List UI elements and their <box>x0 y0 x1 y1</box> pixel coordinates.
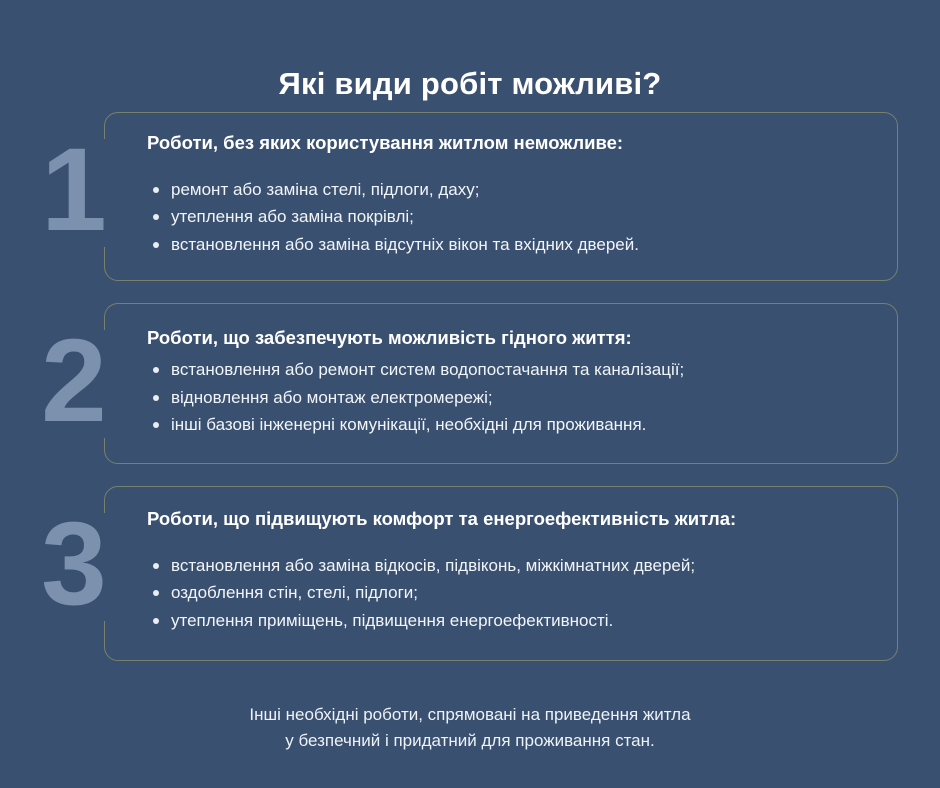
bullet-icon <box>153 367 159 373</box>
card-number-2: 2 <box>31 322 117 440</box>
card-number-1: 1 <box>31 131 117 249</box>
list-item-text: відновлення або монтаж електромережі; <box>171 388 493 407</box>
list-item-text: утеплення або заміна покрівлі; <box>171 207 414 226</box>
list-item-text: утеплення приміщень, підвищення енергоеф… <box>171 611 613 630</box>
list-item: встановлення або ремонт систем водопоста… <box>147 356 871 384</box>
card-number-3: 3 <box>31 505 117 623</box>
bullet-icon <box>153 242 159 248</box>
list-item-text: ремонт або заміна стелі, підлоги, даху; <box>171 180 479 199</box>
list-item: відновлення або монтаж електромережі; <box>147 384 871 412</box>
card-list-3: встановлення або заміна відкосів, підвік… <box>147 552 871 635</box>
list-item: встановлення або заміна відкосів, підвік… <box>147 552 871 580</box>
work-category-card-3: 3 Роботи, що підвищують комфорт та енерг… <box>104 486 898 661</box>
infographic-page: Які види робіт можливі? 1 Роботи, без як… <box>0 0 940 788</box>
bullet-icon <box>153 618 159 624</box>
work-category-card-1: 1 Роботи, без яких користування житлом н… <box>104 112 898 281</box>
footer-line-2: у безпечний і придатний для проживання с… <box>0 728 940 754</box>
page-title: Які види робіт можливі? <box>0 65 940 102</box>
bullet-icon <box>153 187 159 193</box>
list-item: ремонт або заміна стелі, підлоги, даху; <box>147 176 871 204</box>
bullet-icon <box>153 590 159 596</box>
card-heading-3: Роботи, що підвищують комфорт та енергое… <box>147 507 847 532</box>
list-item: утеплення приміщень, підвищення енергоеф… <box>147 607 871 635</box>
list-item-text: оздоблення стін, стелі, підлоги; <box>171 583 418 602</box>
bullet-icon <box>153 214 159 220</box>
footer-line-1: Інші необхідні роботи, спрямовані на при… <box>0 702 940 728</box>
list-item: інші базові інженерні комунікації, необх… <box>147 411 871 439</box>
bullet-icon <box>153 422 159 428</box>
list-item: встановлення або заміна відсутніх вікон … <box>147 231 871 259</box>
card-list-2: встановлення або ремонт систем водопоста… <box>147 356 871 439</box>
card-heading-2: Роботи, що забезпечують можливість гідно… <box>147 326 871 351</box>
list-item: утеплення або заміна покрівлі; <box>147 203 871 231</box>
card-list-1: ремонт або заміна стелі, підлоги, даху; … <box>147 176 871 259</box>
list-item: оздоблення стін, стелі, підлоги; <box>147 579 871 607</box>
list-item-text: встановлення або заміна відсутніх вікон … <box>171 235 639 254</box>
card-heading-1: Роботи, без яких користування житлом нем… <box>147 131 871 156</box>
list-item-text: встановлення або ремонт систем водопоста… <box>171 360 684 379</box>
footer-note: Інші необхідні роботи, спрямовані на при… <box>0 702 940 755</box>
bullet-icon <box>153 563 159 569</box>
list-item-text: інші базові інженерні комунікації, необх… <box>171 415 646 434</box>
bullet-icon <box>153 395 159 401</box>
list-item-text: встановлення або заміна відкосів, підвік… <box>171 556 695 575</box>
work-category-card-2: 2 Роботи, що забезпечують можливість гід… <box>104 303 898 463</box>
cards-container: 1 Роботи, без яких користування житлом н… <box>104 112 898 683</box>
